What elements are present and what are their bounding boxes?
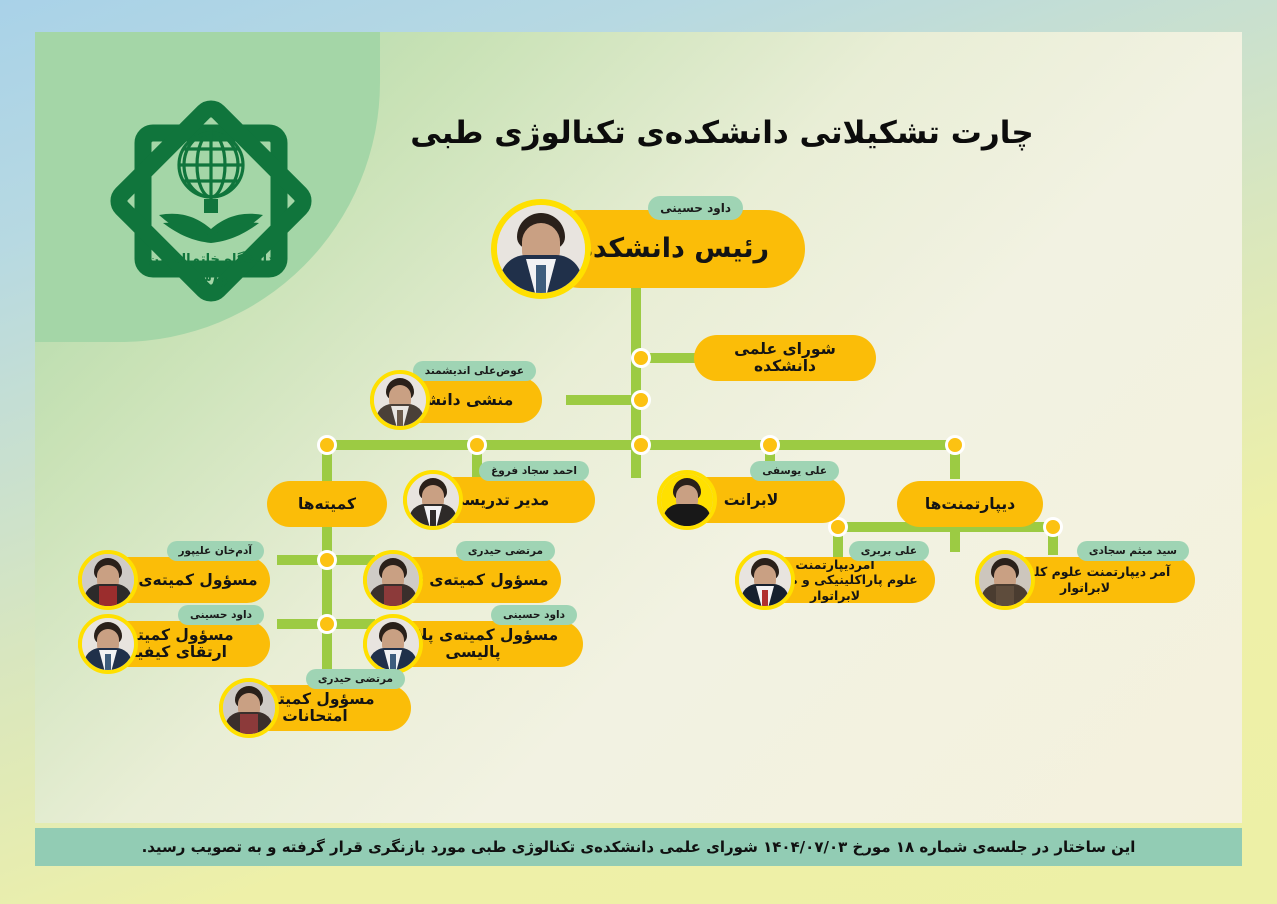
- node-committee-curriculum[interactable]: مسؤول کمیته‌ی نصاب آدم‌خان علیپور: [78, 557, 300, 603]
- footer-band: این ساختار در جلسه‌ی شماره ۱۸ مورخ ۱۴۰۴/…: [35, 828, 1242, 866]
- junction-dot-committee-row1: [317, 550, 337, 570]
- node-clinic-nametag: سید میثم سجادی: [1077, 541, 1189, 561]
- junction-dot-dept-clinic: [1043, 517, 1063, 537]
- node-dean[interactable]: رئیس دانشکده داود حسینی: [485, 210, 805, 288]
- svg-text:دانشگاه خاتم‌النبیین: دانشگاه خاتم‌النبیین: [148, 251, 274, 267]
- node-para-avatar: [735, 550, 795, 610]
- node-department-clinical[interactable]: آمر دیپارتمنت علوم کلینیکی لابراتوار سید…: [975, 557, 1225, 603]
- footer-note: این ساختار در جلسه‌ی شماره ۱۸ مورخ ۱۴۰۴/…: [142, 838, 1136, 856]
- node-departments-pill[interactable]: دیپارتمنت‌ها: [897, 481, 1043, 527]
- node-clinic-avatar: [975, 550, 1035, 610]
- node-committees-pill[interactable]: کمیته‌ها: [267, 481, 387, 527]
- node-committee-plan-policy[interactable]: مسؤول کمیته‌ی پلان و پالیسی داود حسینی: [363, 621, 613, 667]
- svg-text:۱۳۸۶: ۱۳۸۶: [193, 273, 230, 291]
- node-council-pill[interactable]: شورای علمی دانشکده: [694, 335, 876, 381]
- node-quality-nametag: داود حسینی: [178, 605, 264, 625]
- connector-secretary-stub: [566, 395, 636, 405]
- node-committee-exams[interactable]: مسؤول کمیته‌ی امتحانات مرتضی حیدری: [219, 685, 441, 731]
- node-committees-role: کمیته‌ها: [267, 496, 387, 513]
- node-department-paraclinical[interactable]: آمردیپارتمنت علوم پاراکلینیکی و مدیریت ل…: [735, 557, 965, 603]
- node-curriculum-avatar: [78, 550, 138, 610]
- node-committee-research[interactable]: مسؤول کمیته‌ی تحقیق مرتضی حیدری: [363, 557, 591, 603]
- node-plan-avatar: [363, 614, 423, 674]
- junction-dot-bus-lab: [760, 435, 780, 455]
- node-committee-quality[interactable]: مسؤول کمیته‌ی ارتقای کیفیت داود حسینی: [78, 621, 300, 667]
- junction-dot-secretary: [631, 390, 651, 410]
- node-plan-nametag: داود حسینی: [491, 605, 577, 625]
- node-para-nametag: علی بربری: [849, 541, 929, 561]
- chart-panel: دانشگاه خاتم‌النبیین ۱۳۸۶ چارت تشکیلاتی …: [35, 32, 1242, 823]
- node-research-avatar: [363, 550, 423, 610]
- node-departments-role: دیپارتمنت‌ها: [897, 496, 1043, 513]
- node-teaching-avatar: [403, 470, 463, 530]
- node-secretary-avatar: [370, 370, 430, 430]
- node-dean-nametag: داود حسینی: [648, 196, 743, 220]
- node-lab-avatar: [657, 470, 717, 530]
- node-council[interactable]: شورای علمی دانشکده: [694, 335, 876, 381]
- node-dean-avatar: [491, 199, 591, 299]
- node-secretary-nametag: عوض‌علی اندیشمند: [413, 361, 536, 381]
- junction-dot-bus-depts: [945, 435, 965, 455]
- junction-dot-bus-left: [317, 435, 337, 455]
- junction-dot-committee-row2: [317, 614, 337, 634]
- university-logo: دانشگاه خاتم‌النبیین ۱۳۸۶: [97, 87, 325, 317]
- junction-dot-council: [631, 348, 651, 368]
- node-departments[interactable]: دیپارتمنت‌ها: [897, 481, 1043, 527]
- node-lab-nametag: علی یوسفی: [750, 461, 839, 481]
- node-secretary[interactable]: منشی دانشکده عوض‌علی اندیشمند: [370, 377, 572, 423]
- node-research-nametag: مرتضی حیدری: [456, 541, 555, 561]
- node-lab-technician[interactable]: لابرانت علی یوسفی: [657, 477, 875, 523]
- page-title: چارت تشکیلاتی دانشکده‌ی تکنالوژی طبی: [352, 110, 1092, 157]
- node-council-role: شورای علمی دانشکده: [694, 341, 876, 374]
- node-exams-nametag: مرتضی حیدری: [306, 669, 405, 689]
- node-teaching-nametag: احمد سجاد فروغ: [479, 461, 589, 481]
- node-curriculum-nametag: آدم‌خان علیپور: [167, 541, 264, 561]
- node-quality-avatar: [78, 614, 138, 674]
- node-teaching-manager[interactable]: مدیر تدریسی احمد سجاد فروغ: [403, 477, 625, 523]
- junction-dot-bus-center: [631, 435, 651, 455]
- junction-dot-bus-teaching: [467, 435, 487, 455]
- node-exams-avatar: [219, 678, 279, 738]
- node-committees[interactable]: کمیته‌ها: [267, 481, 387, 527]
